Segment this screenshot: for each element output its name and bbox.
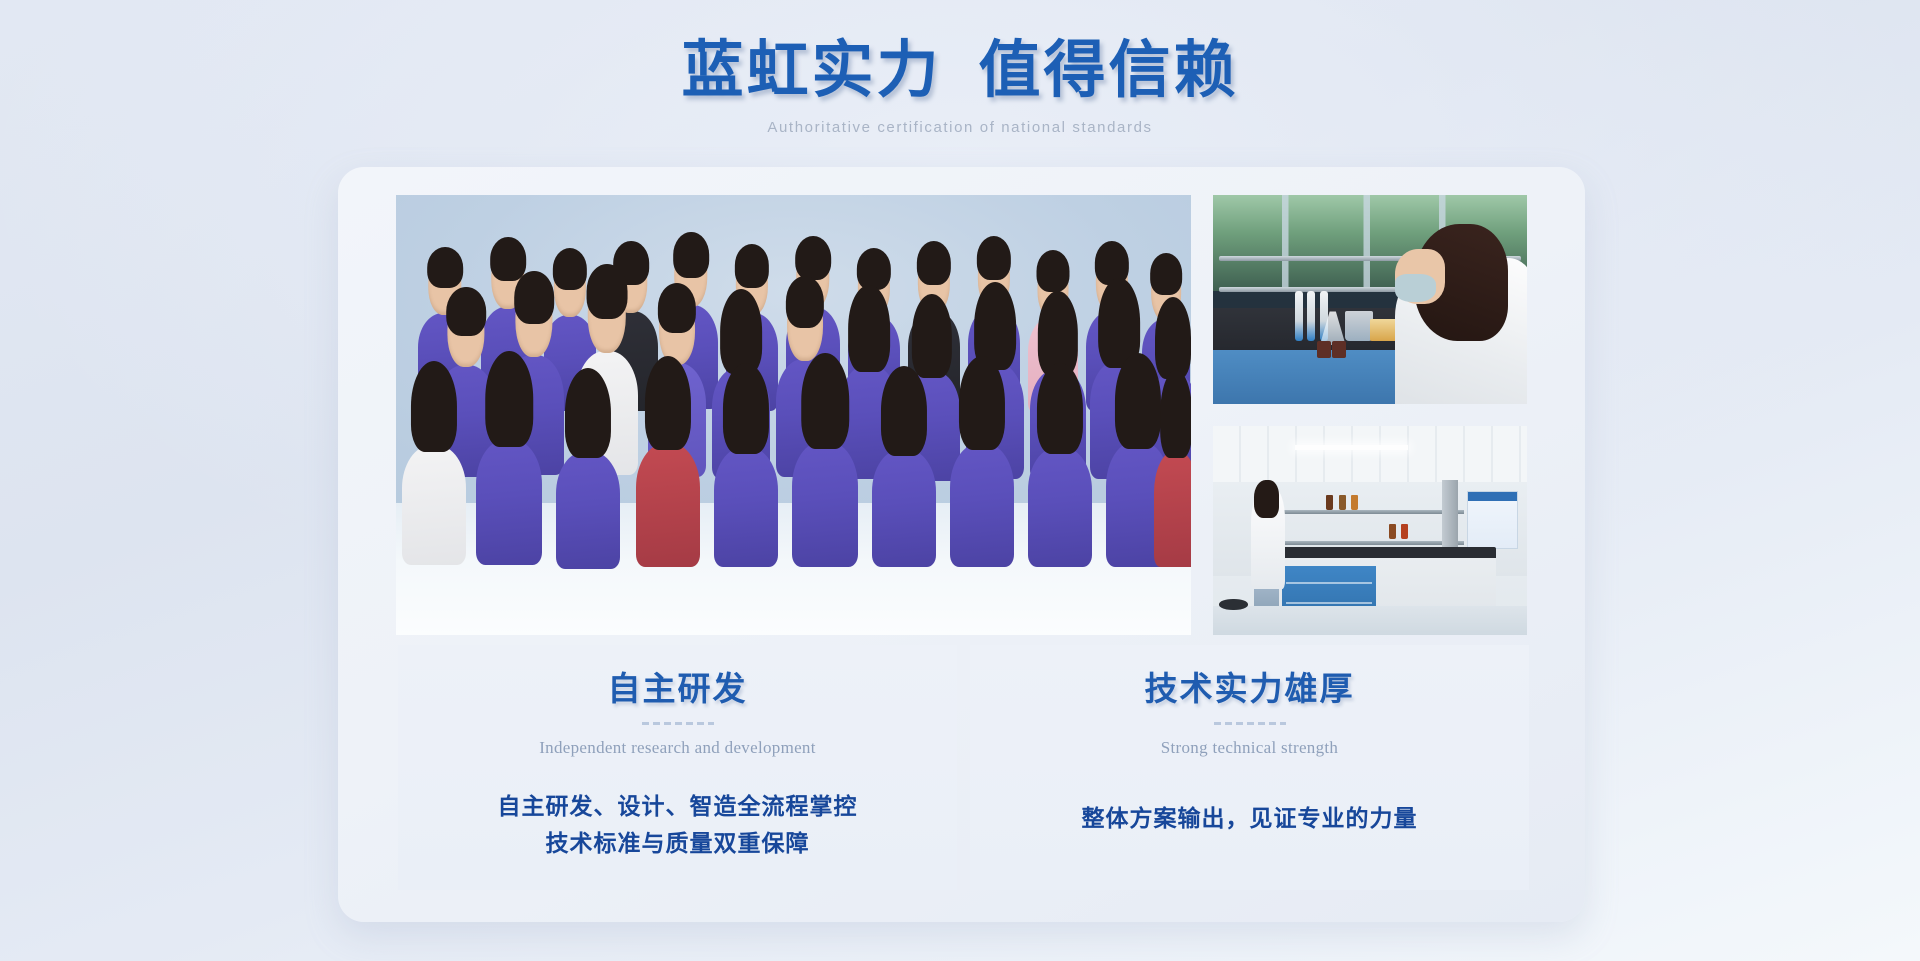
feature-card-title: 技术实力雄厚 <box>970 671 1529 711</box>
reagent-bottle-icon <box>1351 495 1358 510</box>
lab-technician-pipetting-photo <box>1213 195 1527 404</box>
feature-card-description-line: 技术标准与质量双重保障 <box>398 825 957 862</box>
feature-card-description-line: 整体方案输出，见证专业的力量 <box>970 800 1529 837</box>
reagent-shelf-lower <box>1282 541 1464 545</box>
page-subtitle: Authoritative certification of national … <box>0 119 1920 136</box>
feature-card-independent-rd: 自主研发 Independent research and developmen… <box>398 645 957 890</box>
lab-floor <box>1213 606 1527 635</box>
reagent-bottle-1-icon <box>1317 341 1331 358</box>
feature-card-english-subtitle: Strong technical strength <box>970 738 1529 758</box>
dashed-divider-icon <box>642 722 714 725</box>
feature-card-description: 整体方案输出，见证专业的力量 <box>970 800 1529 837</box>
face-mask-icon <box>1395 274 1436 301</box>
laboratory-room-photo <box>1213 426 1527 635</box>
feature-card-description-line: 自主研发、设计、智造全流程掌控 <box>398 788 957 825</box>
side-photo-column <box>1213 195 1527 635</box>
beaker-icon <box>1345 311 1373 341</box>
reagent-bottle-icon <box>1401 524 1408 539</box>
ceiling-light-icon <box>1295 445 1408 450</box>
feature-card-description: 自主研发、设计、智造全流程掌控 技术标准与质量双重保障 <box>398 788 957 863</box>
pipette-1-icon <box>1295 291 1303 341</box>
dashed-divider-icon <box>1214 722 1286 725</box>
reagent-bottle-icon <box>1339 495 1346 510</box>
content-panel: 自主研发 Independent research and developmen… <box>338 167 1585 922</box>
feature-card-technical-strength: 技术实力雄厚 Strong technical strength 整体方案输出，… <box>970 645 1529 890</box>
feature-card-english-subtitle: Independent research and development <box>398 738 957 758</box>
photo-gallery <box>396 195 1527 635</box>
group-photo-people <box>396 195 1191 635</box>
lab-bench-front-panel <box>1213 350 1395 404</box>
team-group-photo <box>396 195 1191 635</box>
lab-stool-icon <box>1219 599 1247 609</box>
reagent-bottle-icon <box>1389 524 1396 539</box>
reagent-bottle-icon <box>1326 495 1333 510</box>
researcher-hair <box>1254 480 1279 518</box>
lab-ceiling <box>1213 426 1527 482</box>
feature-card-title: 自主研发 <box>398 671 957 711</box>
reagent-shelf-upper <box>1282 510 1464 514</box>
reagent-bottle-2-icon <box>1332 341 1346 358</box>
feature-cards: 自主研发 Independent research and developmen… <box>398 645 1529 890</box>
page-header: 蓝虹实力 值得信赖 Authoritative certification of… <box>0 0 1920 136</box>
safety-poster <box>1467 491 1517 550</box>
pipette-2-icon <box>1307 291 1315 341</box>
page-title: 蓝虹实力 值得信赖 <box>0 36 1920 108</box>
